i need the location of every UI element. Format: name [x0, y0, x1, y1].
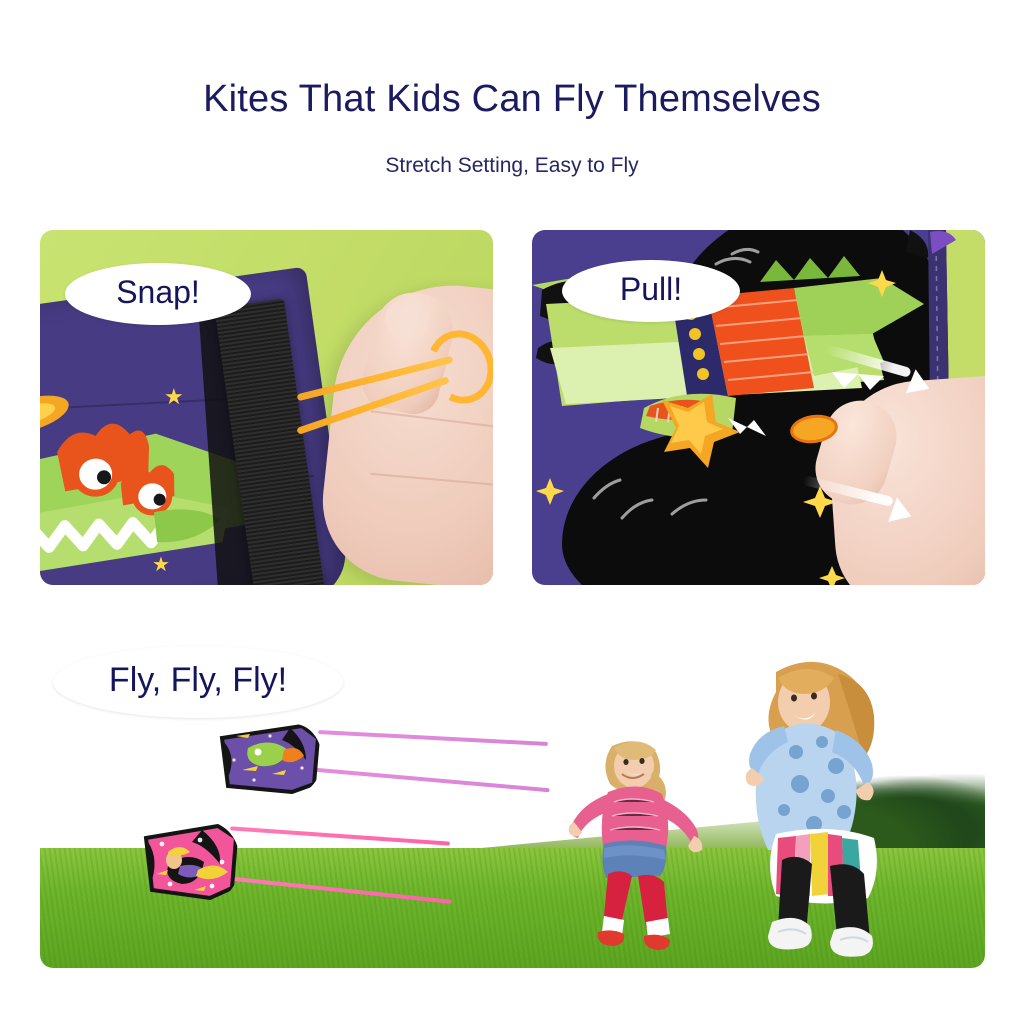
kite-tail [314, 768, 549, 793]
bubble-pull: Pull! [562, 260, 740, 322]
kid-figure [560, 736, 730, 966]
panel-snap: ★ ★ Snap! [40, 230, 493, 585]
kite-tail [226, 876, 451, 904]
bubble-fly: Fly, Fly, Fly! [53, 646, 343, 718]
kite-sail [218, 724, 322, 794]
fly-kite-mermaid [140, 822, 460, 942]
panel-fly: Fly, Fly, Fly! [40, 624, 985, 968]
fly-kite-dragon [218, 724, 538, 834]
page-subtitle: Stretch Setting, Easy to Fly [0, 152, 1024, 180]
header: Kites That Kids Can Fly Themselves Stret… [0, 0, 1024, 215]
snap-star-icon: ★ [164, 386, 184, 408]
panel-pull: Pull! [532, 230, 985, 585]
bubble-fly-label: Fly, Fly, Fly! [109, 663, 287, 701]
kite-sail [140, 822, 240, 902]
kid-girl-pink [560, 736, 730, 966]
kite-tail [318, 730, 548, 746]
page-title: Kites That Kids Can Fly Themselves [0, 76, 1024, 122]
kid-figure [718, 654, 948, 964]
bubble-snap: Snap! [65, 263, 251, 325]
bubble-snap-label: Snap! [116, 276, 200, 312]
kite-tail [230, 826, 450, 845]
bubble-pull-label: Pull! [620, 273, 682, 309]
snap-star-icon: ★ [152, 555, 170, 575]
kid-girl-blue [718, 654, 948, 964]
